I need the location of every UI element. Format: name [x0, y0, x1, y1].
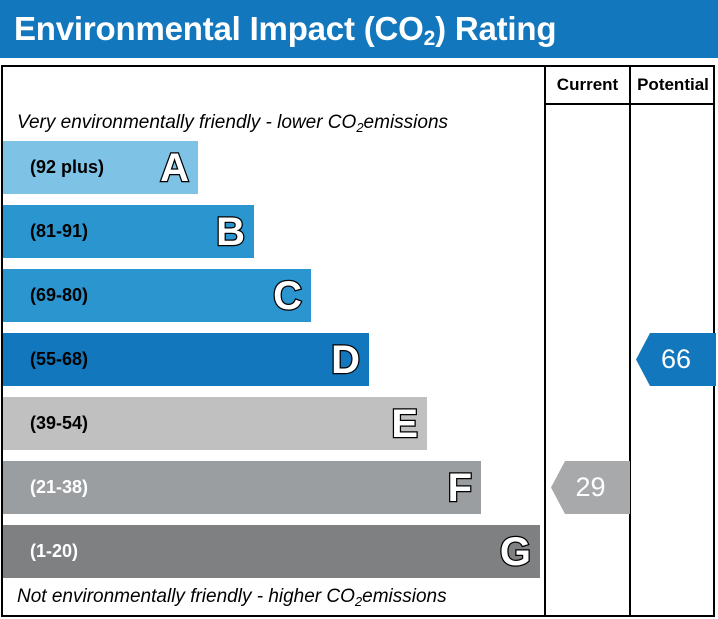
caption-bottom-prefix: Not environmentally friendly - higher CO — [17, 586, 355, 608]
header-row-rule — [544, 103, 715, 105]
potential-rating-value: 66 — [661, 344, 691, 375]
chart-title-bar: Environmental Impact (CO2) Rating — [0, 0, 718, 58]
rating-band-f: (21-38)F — [3, 461, 481, 514]
page-title-suffix: ) Rating — [435, 10, 556, 47]
rating-band-letter: E — [391, 404, 418, 444]
rating-band-range: (81-91) — [3, 221, 88, 242]
rating-band-a: (92 plus)A — [3, 141, 198, 194]
rating-band-letter: C — [273, 276, 302, 316]
rating-band-list: (92 plus)A(81-91)B(69-80)C(55-68)D(39-54… — [3, 141, 540, 577]
rating-band-letter: B — [216, 212, 245, 252]
rating-table: Current Potential Very environmentally f… — [1, 65, 715, 617]
rating-band-range: (92 plus) — [3, 157, 104, 178]
epc-environmental-impact-chart: Environmental Impact (CO2) Rating Curren… — [0, 0, 718, 619]
caption-top-subscript: 2 — [356, 120, 363, 135]
page-title-prefix: Environmental Impact (CO — [14, 10, 424, 47]
current-rating-arrow: 29 — [551, 461, 630, 514]
page-title: Environmental Impact (CO2) Rating — [0, 10, 556, 48]
rating-band-d: (55-68)D — [3, 333, 369, 386]
rating-band-range: (55-68) — [3, 349, 88, 370]
column-header-current: Current — [546, 67, 629, 103]
caption-bottom-subscript: 2 — [355, 594, 362, 609]
rating-band-g: (1-20)G — [3, 525, 540, 578]
caption-bottom-suffix: emissions — [362, 586, 446, 608]
rating-band-b: (81-91)B — [3, 205, 254, 258]
rating-band-letter: A — [160, 148, 189, 188]
rating-band-letter: F — [448, 468, 472, 508]
rating-band-range: (39-54) — [3, 413, 88, 434]
current-rating-value: 29 — [575, 472, 605, 503]
caption-bottom: Not environmentally friendly - higher CO… — [3, 579, 540, 615]
caption-top-prefix: Very environmentally friendly - lower CO — [17, 112, 356, 134]
rating-band-range: (69-80) — [3, 285, 88, 306]
rating-band-range: (21-38) — [3, 477, 88, 498]
caption-top-suffix: emissions — [364, 112, 448, 134]
rating-band-range: (1-20) — [3, 541, 78, 562]
potential-rating-arrow: 66 — [636, 333, 716, 386]
caption-top: Very environmentally friendly - lower CO… — [3, 105, 540, 141]
page-title-subscript: 2 — [424, 27, 435, 50]
column-divider-potential — [629, 67, 631, 615]
column-header-potential: Potential — [631, 67, 715, 103]
column-divider-current — [544, 67, 546, 615]
rating-band-letter: D — [331, 340, 360, 380]
rating-band-c: (69-80)C — [3, 269, 311, 322]
rating-band-e: (39-54)E — [3, 397, 427, 450]
rating-band-letter: G — [500, 532, 531, 572]
